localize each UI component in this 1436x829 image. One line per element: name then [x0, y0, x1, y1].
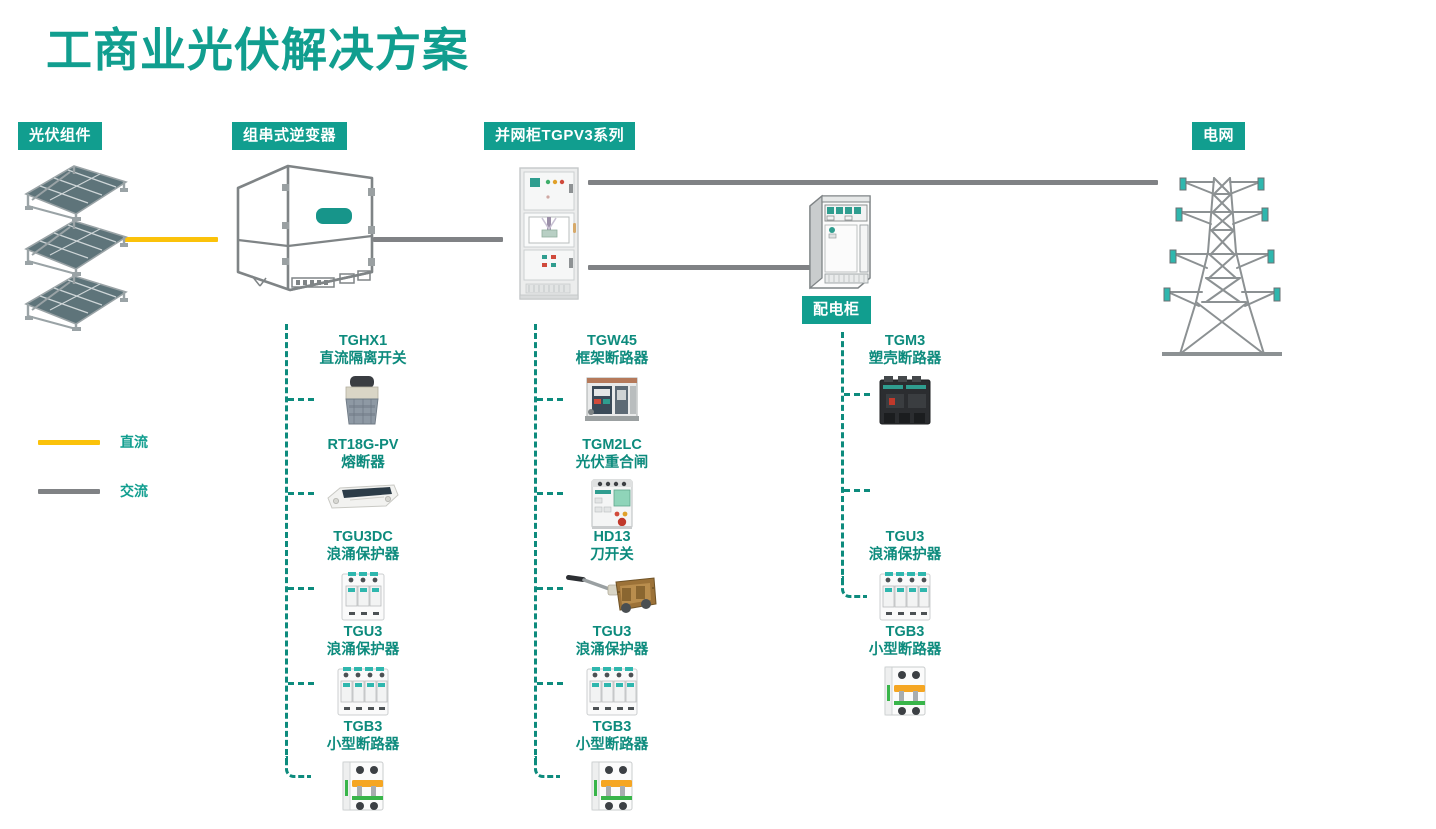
string-inverter-cabinet-icon — [230, 160, 380, 300]
product-item[interactable]: TGHX1 直流隔离开关 — [268, 332, 458, 428]
product-item[interactable]: RT18G-PV 熔断器 — [268, 436, 458, 532]
ac-line-inverter-to-grid-cabinet — [373, 237, 503, 242]
product-model: RT18G-PV — [268, 436, 458, 454]
product-item[interactable]: TGM2LC 光伏重合闸 — [517, 436, 707, 532]
transmission-tower-icon — [1158, 160, 1286, 360]
product-model: TGM3 — [810, 332, 1000, 350]
dc-line-swatch — [38, 440, 100, 445]
product-model: TGB3 — [517, 718, 707, 736]
product-item[interactable]: TGU3 浪涌保护器 — [268, 623, 458, 719]
product-name: 小型断路器 — [810, 641, 1000, 660]
product-model: TGM2LC — [517, 436, 707, 454]
product-name: 浪涌保护器 — [810, 546, 1000, 565]
badge-distribution-cabinet[interactable]: 配电柜 — [802, 296, 871, 324]
surge-protector-4p-icon — [268, 663, 458, 719]
product-model: TGHX1 — [268, 332, 458, 350]
product-item[interactable]: HD13 刀开关 — [517, 528, 707, 624]
surge-protector-4p-icon — [517, 663, 707, 719]
product-model: TGB3 — [268, 718, 458, 736]
legend-label-ac: 交流 — [120, 481, 148, 501]
product-item[interactable]: TGB3 小型断路器 — [268, 718, 458, 814]
ac-line-grid-cabinet-to-distribution — [588, 265, 813, 270]
product-name: 小型断路器 — [268, 736, 458, 755]
badge-grid-cabinet[interactable]: 并网柜TGPV3系列 — [484, 122, 635, 150]
product-model: TGU3 — [810, 528, 1000, 546]
pv-recloser-icon — [517, 476, 707, 532]
product-model: TGU3 — [517, 623, 707, 641]
branch-link — [844, 489, 870, 492]
product-model: TGU3DC — [268, 528, 458, 546]
product-name: 熔断器 — [268, 454, 458, 473]
knife-switch-icon — [517, 568, 707, 624]
product-model: HD13 — [517, 528, 707, 546]
distribution-cabinet-icon — [806, 192, 876, 290]
product-name: 小型断路器 — [517, 736, 707, 755]
product-name: 浪涌保护器 — [517, 641, 707, 660]
product-model: TGB3 — [810, 623, 1000, 641]
product-name: 浪涌保护器 — [268, 641, 458, 660]
ac-line-swatch — [38, 489, 100, 494]
product-model: TGU3 — [268, 623, 458, 641]
miniature-circuit-breaker-icon — [517, 758, 707, 814]
legend-item-ac: 交流 — [38, 481, 148, 501]
product-name: 塑壳断路器 — [810, 350, 1000, 369]
legend-item-dc: 直流 — [38, 432, 148, 452]
badge-string-inverter[interactable]: 组串式逆变器 — [232, 122, 347, 150]
dc-line-pv-to-inverter — [123, 237, 218, 242]
product-item[interactable]: TGB3 小型断路器 — [810, 623, 1000, 719]
page-title: 工商业光伏解决方案 — [46, 24, 469, 77]
miniature-circuit-breaker-icon — [810, 663, 1000, 719]
ac-line-grid-cabinet-to-tower — [588, 180, 1158, 185]
product-item[interactable]: TGU3 浪涌保护器 — [517, 623, 707, 719]
product-name: 框架断路器 — [517, 350, 707, 369]
product-item[interactable]: TGU3DC 浪涌保护器 — [268, 528, 458, 624]
legend-label-dc: 直流 — [120, 432, 148, 452]
product-item[interactable]: TGU3 浪涌保护器 — [810, 528, 1000, 624]
surge-protector-4p-icon — [810, 568, 1000, 624]
solar-panel-array-icon — [16, 160, 136, 335]
product-item[interactable]: TGW45 框架断路器 — [517, 332, 707, 428]
air-circuit-breaker-icon — [517, 372, 707, 428]
product-name: 刀开关 — [517, 546, 707, 565]
fuse-holder-icon — [268, 476, 458, 532]
product-name: 直流隔离开关 — [268, 350, 458, 369]
miniature-circuit-breaker-icon — [268, 758, 458, 814]
moulded-case-circuit-breaker-icon — [810, 372, 1000, 428]
product-item[interactable]: TGB3 小型断路器 — [517, 718, 707, 814]
product-model: TGW45 — [517, 332, 707, 350]
diagram-canvas: 工商业光伏解决方案 光伏组件 组串式逆变器 并网柜TGPV3系列 配电柜 电网 … — [0, 0, 1436, 829]
switchgear-cabinet-icon — [518, 166, 580, 301]
dc-isolator-switch-icon — [268, 372, 458, 428]
product-item[interactable]: TGM3 塑壳断路器 — [810, 332, 1000, 428]
product-name: 浪涌保护器 — [268, 546, 458, 565]
surge-protector-3p-icon — [268, 568, 458, 624]
product-name: 光伏重合闸 — [517, 454, 707, 473]
badge-pv-modules[interactable]: 光伏组件 — [18, 122, 102, 150]
badge-power-grid[interactable]: 电网 — [1192, 122, 1245, 150]
